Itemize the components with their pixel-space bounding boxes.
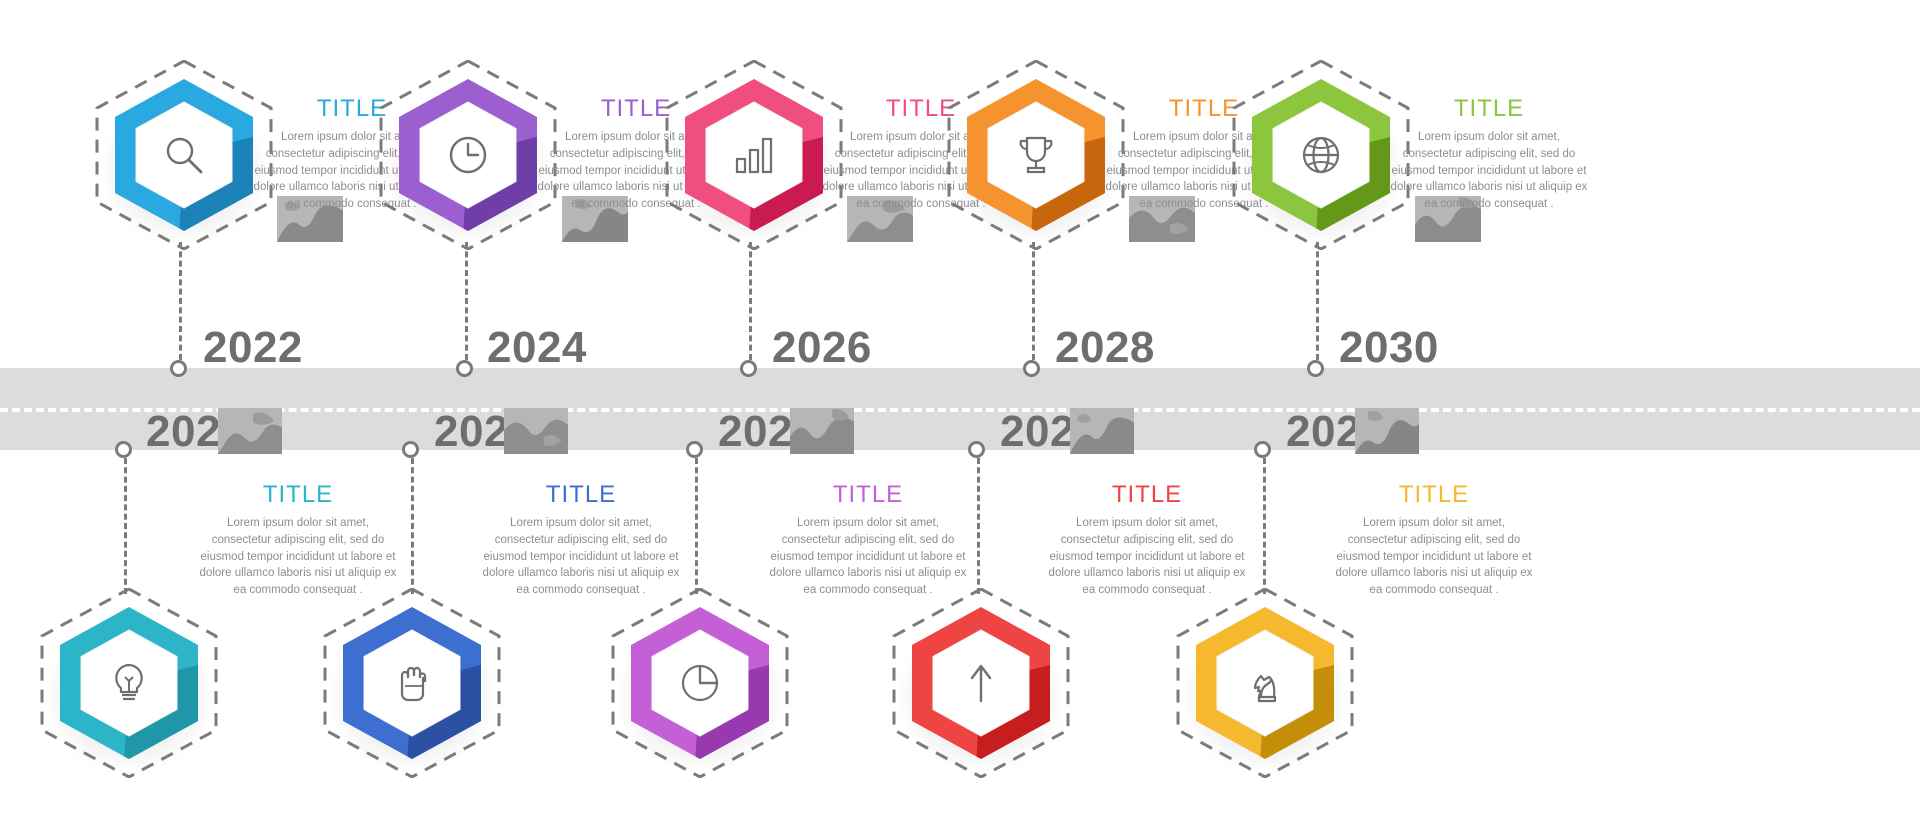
connector-line-2030 — [1316, 242, 1319, 360]
hexagon-badge-2022[interactable] — [94, 60, 274, 250]
step-title-2027: TITLE — [1047, 482, 1247, 508]
year-label-2022: 2022 — [203, 326, 303, 370]
step-text-block-2027: TITLE Lorem ipsum dolor sit amet, consec… — [1047, 482, 1247, 599]
connector-line-2024 — [465, 242, 468, 360]
year-marker-2026[interactable] — [740, 360, 757, 377]
year-label-2026: 2026 — [772, 326, 872, 370]
lightbulb-icon — [58, 607, 200, 759]
arrow-up-icon — [910, 607, 1052, 759]
step-text-block-2021: TITLE Lorem ipsum dolor sit amet, consec… — [198, 482, 398, 599]
hexagon-badge-2026[interactable] — [664, 60, 844, 250]
hexagon-badge-2027[interactable] — [891, 588, 1071, 778]
hexagon-badge-2023[interactable] — [322, 588, 502, 778]
step-body-2029: Lorem ipsum dolor sit amet, consectetur … — [1334, 515, 1534, 598]
connector-line-2026 — [749, 242, 752, 360]
step-body-2025: Lorem ipsum dolor sit amet, consectetur … — [768, 515, 968, 598]
connector-line-2028 — [1032, 242, 1035, 360]
step-text-block-2029: TITLE Lorem ipsum dolor sit amet, consec… — [1334, 482, 1534, 599]
hexagon-badge-2021[interactable] — [39, 588, 219, 778]
year-marker-2023[interactable] — [402, 441, 419, 458]
hexagon-badge-2029[interactable] — [1175, 588, 1355, 778]
image-placeholder-2029 — [1355, 408, 1419, 454]
connector-line-2027 — [977, 458, 980, 594]
step-title-2029: TITLE — [1334, 482, 1534, 508]
year-marker-2029[interactable] — [1254, 441, 1271, 458]
image-placeholder-2021 — [218, 408, 282, 454]
year-marker-2027[interactable] — [968, 441, 985, 458]
step-body-2030: Lorem ipsum dolor sit amet, consectetur … — [1389, 129, 1589, 212]
step-text-block-2030: TITLE Lorem ipsum dolor sit amet, consec… — [1389, 96, 1589, 213]
year-label-2024: 2024 — [487, 326, 587, 370]
year-marker-2022[interactable] — [170, 360, 187, 377]
image-placeholder-2027 — [1070, 408, 1134, 454]
year-marker-2021[interactable] — [115, 441, 132, 458]
infographic-canvas: 2021 — [0, 0, 1920, 823]
step-body-2023: Lorem ipsum dolor sit amet, consectetur … — [481, 515, 681, 598]
step-body-2027: Lorem ipsum dolor sit amet, consectetur … — [1047, 515, 1247, 598]
year-marker-2028[interactable] — [1023, 360, 1040, 377]
year-label-2030: 2030 — [1339, 326, 1439, 370]
hexagon-badge-2030[interactable] — [1231, 60, 1411, 250]
connector-line-2023 — [411, 458, 414, 594]
image-placeholder-2023 — [504, 408, 568, 454]
year-marker-2024[interactable] — [456, 360, 473, 377]
year-marker-2030[interactable] — [1307, 360, 1324, 377]
step-text-block-2023: TITLE Lorem ipsum dolor sit amet, consec… — [481, 482, 681, 599]
step-body-2021: Lorem ipsum dolor sit amet, consectetur … — [198, 515, 398, 598]
step-title-2021: TITLE — [198, 482, 398, 508]
clock-icon — [397, 79, 539, 231]
trophy-icon — [965, 79, 1107, 231]
step-title-2023: TITLE — [481, 482, 681, 508]
magnifier-icon — [113, 79, 255, 231]
image-placeholder-2025 — [790, 408, 854, 454]
year-label-2028: 2028 — [1055, 326, 1155, 370]
connector-line-2025 — [695, 458, 698, 594]
step-text-block-2025: TITLE Lorem ipsum dolor sit amet, consec… — [768, 482, 968, 599]
bar-chart-icon — [683, 79, 825, 231]
fist-icon — [341, 607, 483, 759]
step-title-2025: TITLE — [768, 482, 968, 508]
connector-line-2022 — [179, 242, 182, 360]
chess-knight-icon — [1194, 607, 1336, 759]
connector-line-2021 — [124, 458, 127, 594]
pie-chart-icon — [629, 607, 771, 759]
hexagon-badge-2025[interactable] — [610, 588, 790, 778]
hexagon-badge-2028[interactable] — [946, 60, 1126, 250]
timeline-center-dashed-line — [0, 408, 1920, 412]
connector-line-2029 — [1263, 458, 1266, 594]
step-title-2030: TITLE — [1389, 96, 1589, 122]
hexagon-badge-2024[interactable] — [378, 60, 558, 250]
globe-icon — [1250, 79, 1392, 231]
year-marker-2025[interactable] — [686, 441, 703, 458]
